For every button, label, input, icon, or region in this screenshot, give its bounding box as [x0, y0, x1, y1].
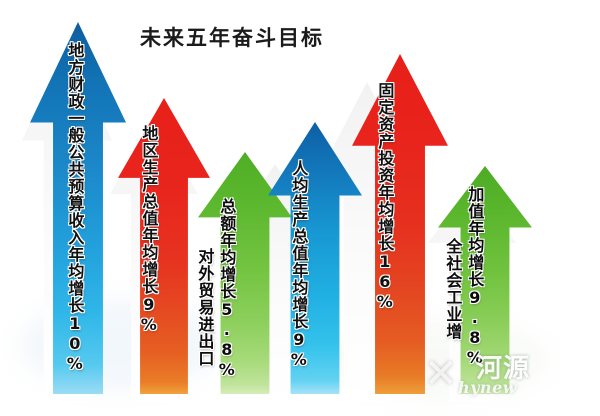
arrow-label-fixed-asset-investment: 固定资产投资年均增长16% — [376, 82, 392, 312]
arrow-per-capita-gdp[interactable] — [268, 122, 362, 394]
arrow-shape-red — [352, 54, 448, 394]
arrow-label-per-capita-gdp: 人均生产总值年均增长9% — [290, 160, 306, 370]
arrow-label-foreign-trade-secondary: 对外贸易进出口 — [196, 248, 212, 367]
arrow-label-regional-gdp: 地区生产总值年均增长9% — [140, 125, 156, 335]
arrow-fixed-asset-investment[interactable] — [352, 54, 448, 394]
arrow-shape-blue — [268, 122, 362, 394]
arrow-label-industrial-added-value-secondary: 全社会工业增 — [444, 238, 460, 340]
page-title: 未来五年奋斗目标 — [140, 22, 324, 52]
infographic-canvas: 地方财政一般公共预算收入年均增长10% 地区生产总值年均增长9% 总额年均增长5… — [0, 0, 600, 416]
arrow-label-industrial-added-value-primary: 加值年均增长9.8% — [466, 186, 482, 368]
arrow-label-foreign-trade-primary: 总额年均增长5.8% — [218, 198, 234, 380]
arrow-label-local-fiscal-revenue: 地方财政一般公共预算收入年均增长10% — [66, 42, 82, 374]
